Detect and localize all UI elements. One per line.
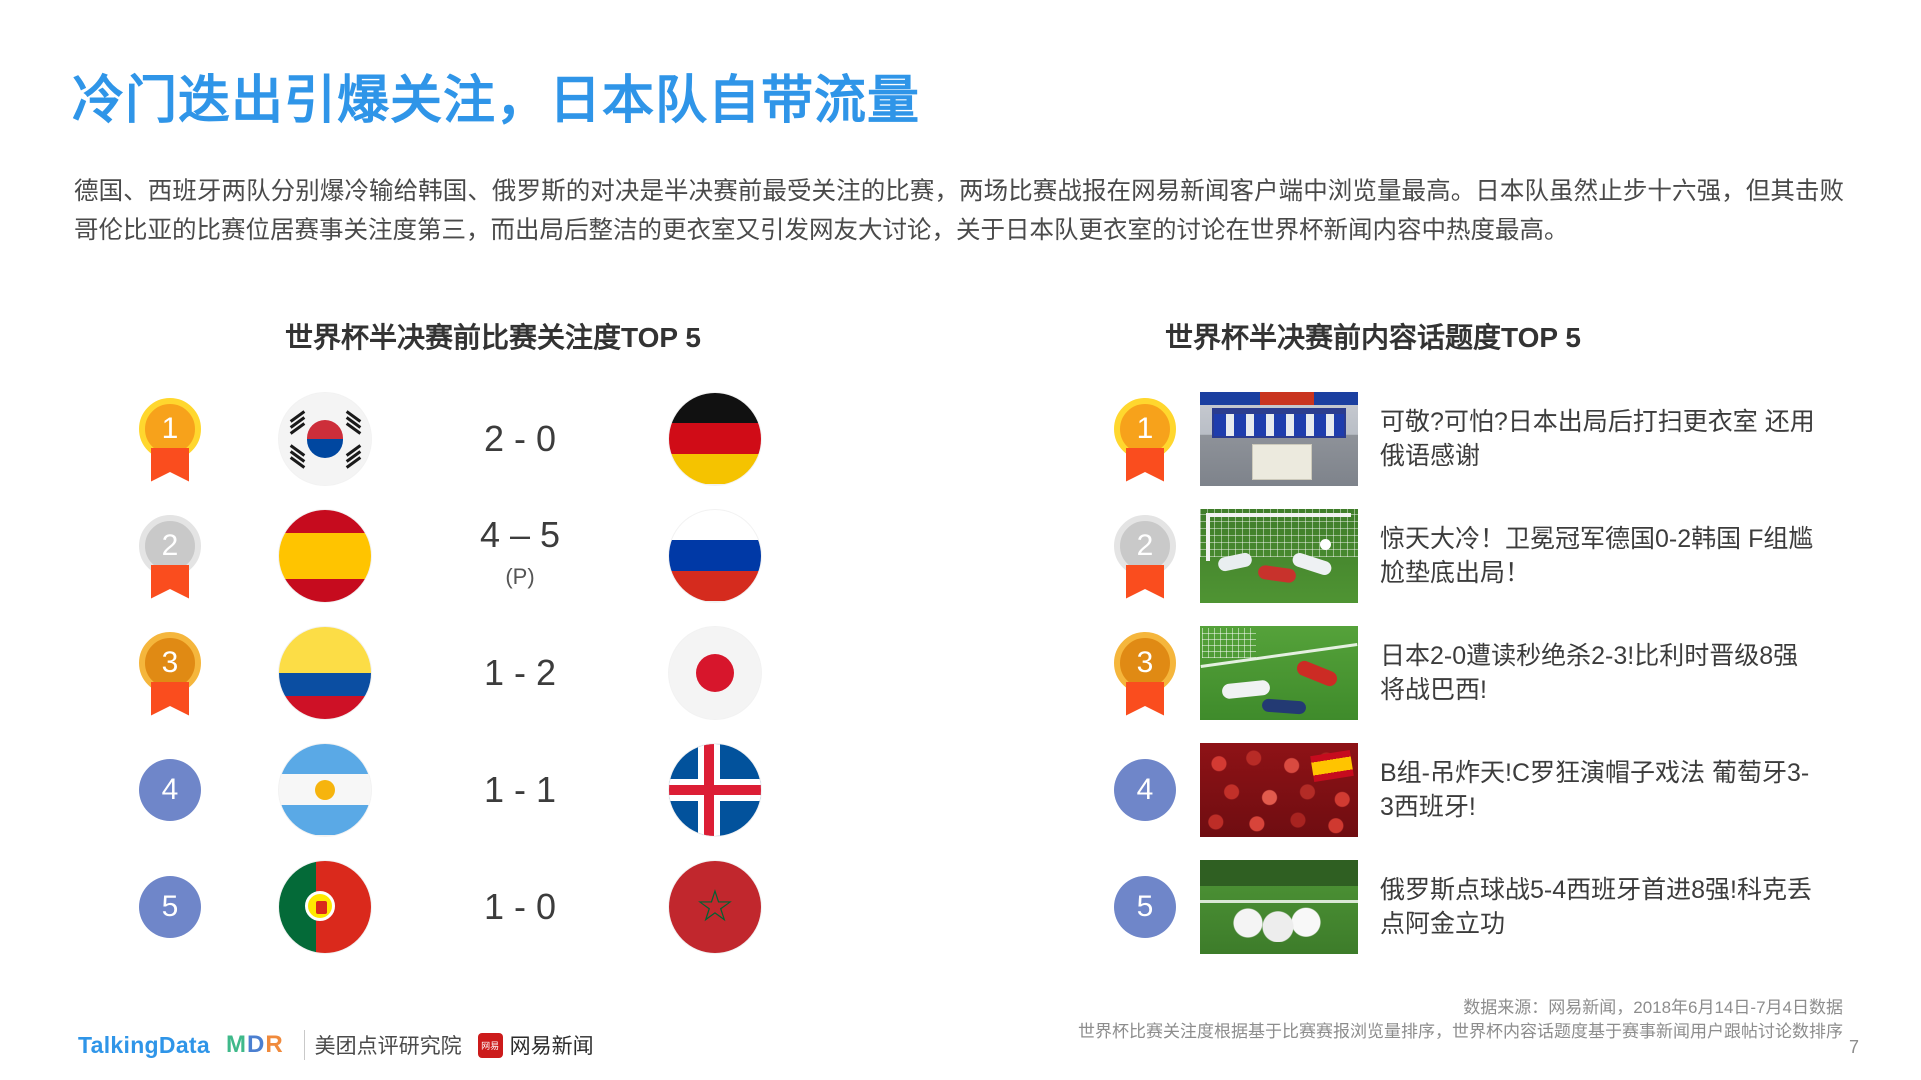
logo-bar: TalkingData MDR 美团点评研究院 网易 网易新闻 [78,1030,594,1060]
gold-medal-icon: 1 [139,398,201,480]
rank-circle-icon: 5 [1114,876,1176,938]
content-topic-list: 1 可敬?可怕?日本出局后打扫更衣室 还用俄语感谢 2 惊天大冷！卫冕冠军德国0… [1090,380,1850,965]
lede-paragraph: 德国、西班牙两队分别爆冷输给韩国、俄罗斯的对决是半决赛前最受关注的比赛，两场比赛… [74,172,1844,250]
away-flag-cell [620,744,810,836]
meituan-research-label: 美团点评研究院 [304,1030,462,1060]
iceland-flag-icon [669,744,761,836]
rank-cell: 1 [1090,398,1200,480]
news-headline: B组-吊炸天!C罗狂演帽子戏法 葡萄牙3-3西班牙! [1380,756,1820,824]
morocco-flag-icon: ☆ [669,861,761,953]
source-line-2: 世界杯比赛关注度根据基于比赛赛报浏览量排序，世界杯内容话题度基于赛事新闻用户跟帖… [1078,1020,1843,1044]
news-headline: 惊天大冷！卫冕冠军德国0-2韩国 F组尴尬垫底出局！ [1380,522,1820,590]
list-item[interactable]: 1 可敬?可怕?日本出局后打扫更衣室 还用俄语感谢 [1090,380,1850,497]
colombia-flag-icon [279,627,371,719]
home-flag-cell [230,393,420,485]
away-flag-cell: ☆ [620,861,810,953]
argentina-flag-icon [279,744,371,836]
match-attention-list: 1 [110,380,900,965]
mdr-logo-r: R [265,1031,283,1058]
home-flag-cell [230,510,420,602]
players-on-pitch-photo [1200,626,1358,720]
rank-circle-icon: 4 [1114,759,1176,821]
list-item[interactable]: 4 B组-吊炸天!C罗狂演帽子戏法 葡萄牙3-3西班牙! [1090,731,1850,848]
page-number: 7 [1849,1037,1859,1058]
rank-cell: 3 [1090,632,1200,714]
netease-news-label: 网易新闻 [510,1030,594,1060]
rank-cell: 3 [110,632,230,714]
mdr-logo: MDR [226,1031,284,1059]
home-flag-cell [230,744,420,836]
medal-ribbon-icon [1126,448,1164,482]
table-row[interactable]: 1 [110,380,900,497]
medal-ribbon-icon [1126,682,1164,716]
medal-ribbon-icon [1126,565,1164,599]
table-row[interactable]: 3 1 - 2 [110,614,900,731]
home-flag-cell [230,627,420,719]
rank-cell: 1 [110,398,230,480]
score-cell: 4 – 5 (P) [420,515,620,597]
medal-ribbon-icon [151,682,189,716]
spain-flag-icon [279,510,371,602]
news-headline: 可敬?可怕?日本出局后打扫更衣室 还用俄语感谢 [1380,405,1820,473]
score-value: 1 - 1 [484,769,556,810]
germany-flag-icon [669,393,761,485]
rank-cell: 2 [110,515,230,597]
news-headline: 俄罗斯点球战5-4西班牙首进8强!科克丢点阿金立功 [1380,873,1820,941]
table-row[interactable]: 2 4 – 5 (P) [110,497,900,614]
celebration-photo [1200,860,1358,954]
rank-circle-icon: 4 [139,759,201,821]
score-cell: 1 - 2 [420,653,620,693]
bronze-medal-icon: 3 [139,632,201,714]
portugal-flag-icon [279,861,371,953]
medal-ribbon-icon [151,448,189,482]
score-note: (P) [420,557,620,597]
away-flag-cell [620,510,810,602]
locker-room-photo [1200,392,1358,486]
score-value: 2 - 0 [484,418,556,459]
list-item[interactable]: 3 日本2-0遭读秒绝杀2-3!比利时晋级8强将战巴西! [1090,614,1850,731]
score-value: 1 - 0 [484,886,556,927]
rank-cell: 5 [110,876,230,938]
mdr-logo-m: M [226,1031,247,1058]
gold-medal-icon: 1 [1114,398,1176,480]
talkingdata-logo: TalkingData [78,1032,210,1059]
score-value: 1 - 2 [484,652,556,693]
score-cell: 1 - 1 [420,770,620,810]
rank-cell: 4 [1090,759,1200,821]
list-item[interactable]: 5 俄罗斯点球战5-4西班牙首进8强!科克丢点阿金立功 [1090,848,1850,965]
page-title: 冷门迭出引爆关注，日本队自带流量 [72,58,920,133]
netease-badge-icon: 网易 [478,1033,503,1058]
silver-medal-icon: 2 [139,515,201,597]
away-flag-cell [620,393,810,485]
table-row[interactable]: 5 1 - 0 ☆ [110,848,900,965]
rank-cell: 4 [110,759,230,821]
medal-ribbon-icon [151,565,189,599]
away-flag-cell [620,627,810,719]
rank-cell: 2 [1090,515,1200,597]
mdr-logo-d: D [247,1031,265,1058]
rank-cell: 5 [1090,876,1200,938]
source-note: 数据来源：网易新闻，2018年6月14日-7月4日数据 世界杯比赛关注度根据基于… [1078,996,1843,1044]
japan-flag-icon [669,627,761,719]
bronze-medal-icon: 3 [1114,632,1176,714]
rank-circle-icon: 5 [139,876,201,938]
red-crowd-photo [1200,743,1358,837]
netease-news-logo: 网易 网易新闻 [478,1030,594,1060]
score-cell: 1 - 0 [420,887,620,927]
right-panel-heading: 世界杯半决赛前内容话题度TOP 5 [1165,316,1581,356]
home-flag-cell [230,861,420,953]
left-panel-heading: 世界杯半决赛前比赛关注度TOP 5 [285,316,701,356]
score-value: 4 – 5 [480,514,560,555]
list-item[interactable]: 2 惊天大冷！卫冕冠军德国0-2韩国 F组尴尬垫底出局！ [1090,497,1850,614]
score-cell: 2 - 0 [420,419,620,459]
russia-flag-icon [669,510,761,602]
goalmouth-photo [1200,509,1358,603]
slide-root: 冷门迭出引爆关注，日本队自带流量 德国、西班牙两队分别爆冷输给韩国、俄罗斯的对决… [0,0,1921,1080]
news-headline: 日本2-0遭读秒绝杀2-3!比利时晋级8强将战巴西! [1380,639,1820,707]
table-row[interactable]: 4 1 - 1 [110,731,900,848]
source-line-1: 数据来源：网易新闻，2018年6月14日-7月4日数据 [1078,996,1843,1020]
silver-medal-icon: 2 [1114,515,1176,597]
korea-flag-icon [279,393,371,485]
